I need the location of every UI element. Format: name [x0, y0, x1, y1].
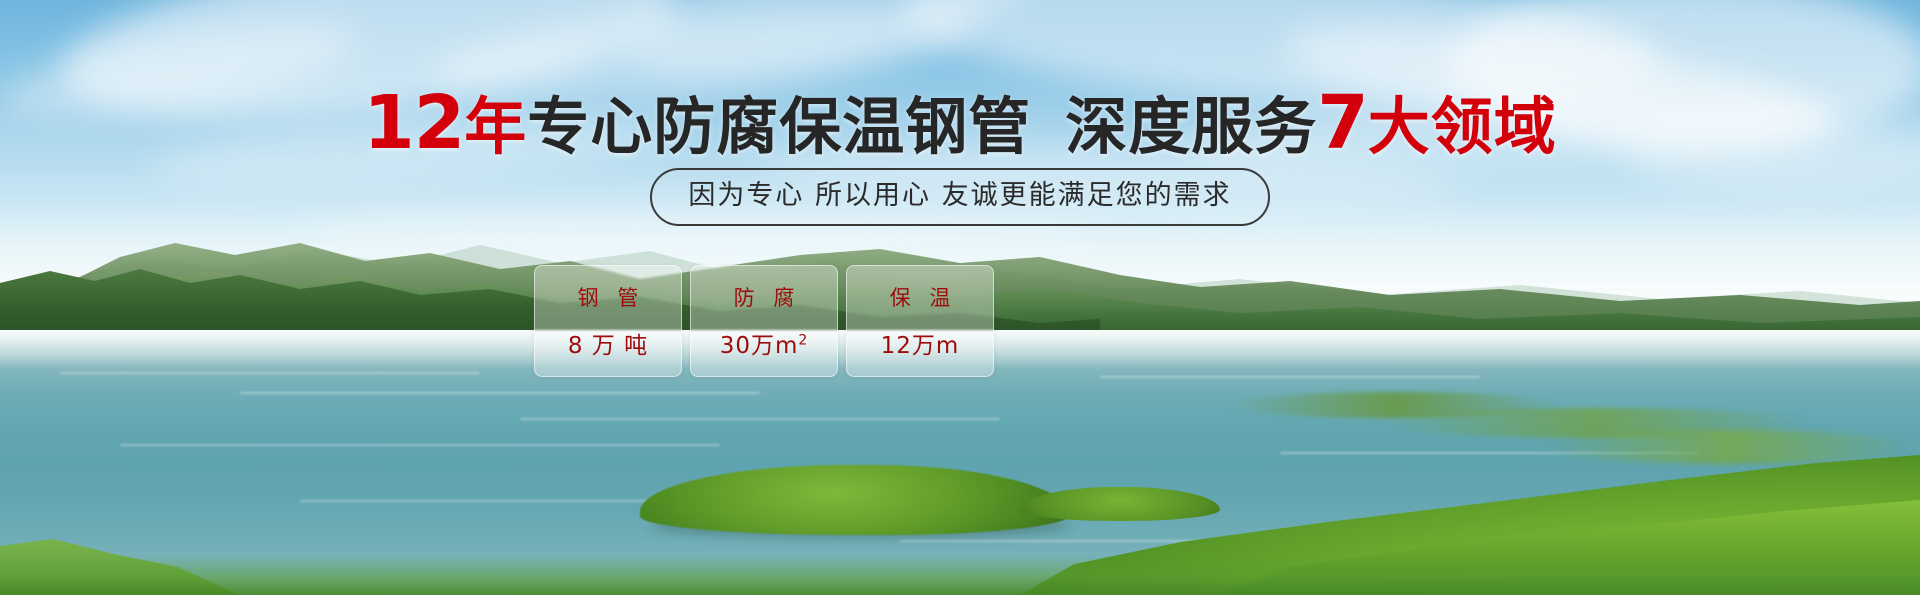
subtitle-container: 因为专心 所以用心 友诚更能满足您的需求 [0, 168, 1920, 226]
stat-card-value-superscript: 2 [798, 332, 808, 348]
stat-card-insulation[interactable]: 保 温 12万m [846, 265, 994, 377]
stat-card-value: 12万m [881, 326, 960, 360]
banner-content: 12年专心防腐保温钢管深度服务7大领域 因为专心 所以用心 友诚更能满足您的需求… [0, 0, 1920, 595]
stat-card-title: 防 腐 [728, 282, 801, 312]
headline-fields-number: 7 [1317, 80, 1368, 166]
headline-main-text: 专心防腐保温钢管 [527, 90, 1031, 163]
stat-card-steel-pipe[interactable]: 钢 管 8 万 吨 [534, 265, 682, 377]
headline: 12年专心防腐保温钢管深度服务7大领域 [0, 88, 1920, 162]
stat-cards: 钢 管 8 万 吨 防 腐 30万m2 保 温 12万m [534, 265, 994, 377]
headline-years-unit: 年 [464, 90, 527, 163]
stat-card-value: 30万m2 [720, 326, 809, 360]
subtitle-pill: 因为专心 所以用心 友诚更能满足您的需求 [650, 168, 1269, 226]
stat-card-value-text: 8 万 吨 [568, 333, 648, 359]
stat-card-value: 8 万 吨 [568, 326, 648, 360]
headline-fields-text: 大领域 [1368, 90, 1557, 163]
hero-banner: 12年专心防腐保温钢管深度服务7大领域 因为专心 所以用心 友诚更能满足您的需求… [0, 0, 1920, 595]
stat-card-value-text: 30万m [720, 333, 799, 359]
headline-service-text: 深度服务 [1065, 90, 1317, 163]
stat-card-anticorrosion[interactable]: 防 腐 30万m2 [690, 265, 838, 377]
stat-card-title: 保 温 [884, 282, 957, 312]
stat-card-value-text: 12万m [881, 333, 960, 359]
stat-card-title: 钢 管 [572, 282, 645, 312]
headline-years-number: 12 [363, 80, 464, 166]
